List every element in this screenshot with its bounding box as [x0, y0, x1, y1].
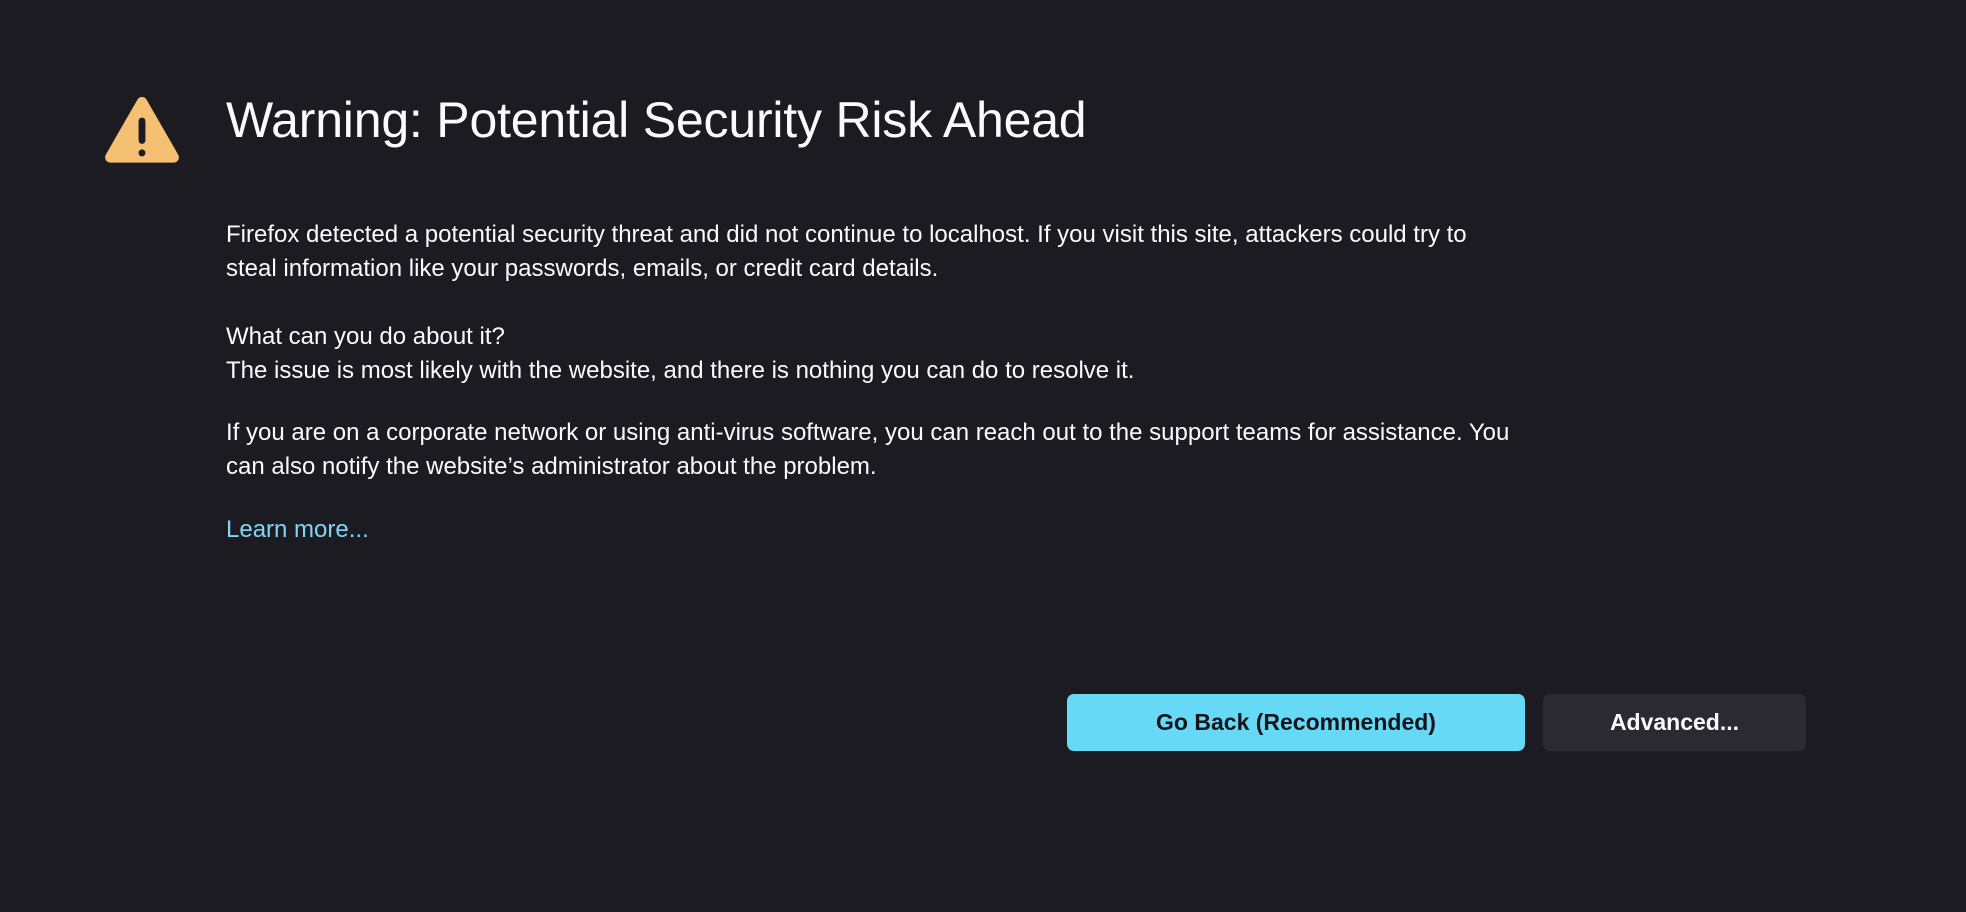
error-short-description: Firefox detected a potential security th…	[226, 218, 1516, 286]
page-title: Warning: Potential Security Risk Ahead	[226, 86, 1086, 149]
warning-triangle-icon	[100, 90, 184, 174]
button-container: Go Back (Recommended) Advanced...	[0, 694, 1966, 751]
learn-more-link[interactable]: Learn more...	[226, 514, 369, 545]
title-row: Warning: Potential Security Risk Ahead	[100, 86, 1966, 174]
error-body: Firefox detected a potential security th…	[226, 174, 1516, 546]
neterror-page: Warning: Potential Security Risk Ahead F…	[0, 0, 1966, 912]
what-can-you-do-subheading: What can you do about it?	[226, 320, 1516, 354]
issue-explanation-paragraph: The issue is most likely with the websit…	[226, 354, 1516, 388]
go-back-button[interactable]: Go Back (Recommended)	[1067, 694, 1525, 751]
corporate-network-paragraph: If you are on a corporate network or usi…	[226, 416, 1516, 484]
advanced-button[interactable]: Advanced...	[1543, 694, 1806, 751]
